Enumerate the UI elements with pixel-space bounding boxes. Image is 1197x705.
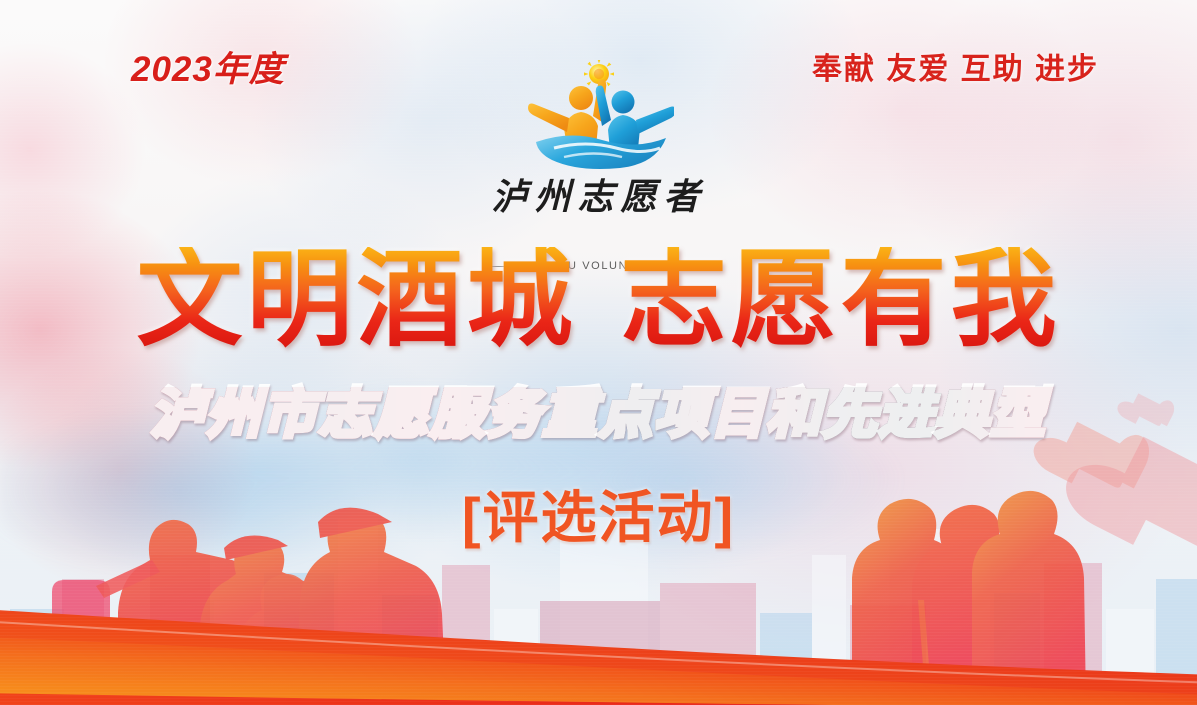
poster-bracket-line: [评选活动] — [0, 473, 1197, 554]
year-label: 2023年度 — [131, 41, 285, 92]
bottom-swoosh-ribbon — [0, 563, 1197, 705]
headline-part-left: 文明酒城 — [137, 241, 577, 359]
logo-mark-icon — [524, 60, 674, 172]
slogan-text: 奉献 友爱 互助 进步 — [812, 44, 1099, 88]
poster-canvas: 2023年度 奉献 友爱 互助 进步 — [0, 0, 1197, 705]
poster-headline: 文明酒城志愿有我 — [0, 247, 1197, 353]
luzjou-volunteers-logo: 泸州志愿者 LUZJOU VOLUNTEERS — [470, 60, 728, 220]
logo-chinese-name: 泸州志愿者 — [470, 168, 728, 220]
headline-part-right: 志愿有我 — [621, 241, 1061, 359]
poster-subtitle: 泸州市志愿服务重点项目和先进典型 — [0, 387, 1197, 441]
